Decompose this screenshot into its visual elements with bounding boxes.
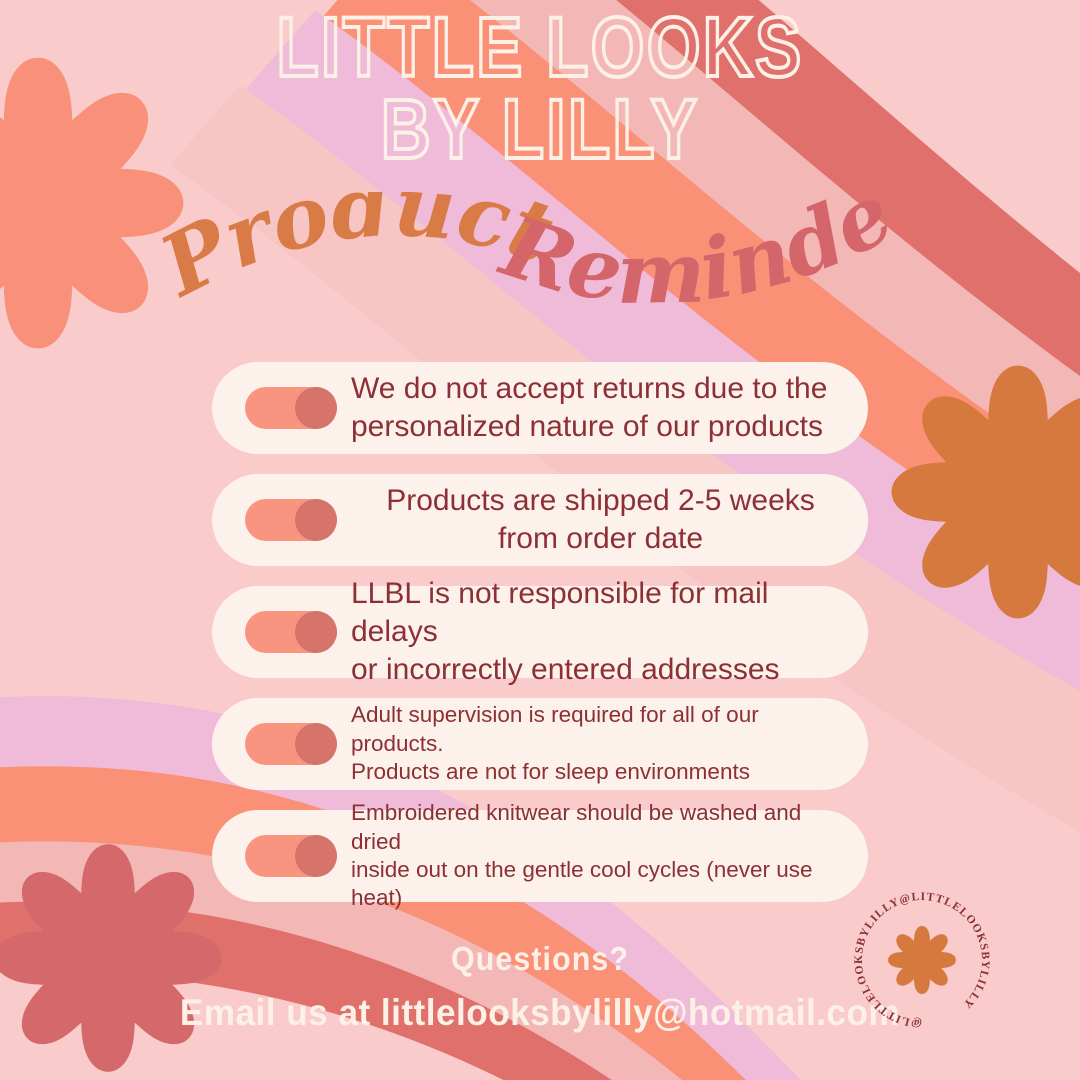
- reminder-text: Adult supervision is required for all of…: [351, 701, 850, 786]
- flower-badge-icon: [888, 926, 956, 994]
- toggle-switch-returns[interactable]: [245, 387, 337, 429]
- reminder-line-2: inside out on the gentle cool cycles (ne…: [351, 857, 813, 910]
- toggle-knob: [295, 611, 337, 653]
- reminder-item-mail-delays[interactable]: LLBL is not responsible for mail delays …: [212, 586, 868, 678]
- toggle-knob: [295, 723, 337, 765]
- reminder-item-washing[interactable]: Embroidered knitwear should be washed an…: [212, 810, 868, 902]
- toggle-knob: [295, 499, 337, 541]
- reminder-list: We do not accept returns due to the pers…: [212, 362, 868, 922]
- toggle-switch-adult-supervision[interactable]: [245, 723, 337, 765]
- reminder-text: We do not accept returns due to the pers…: [351, 370, 850, 446]
- reminder-item-adult-supervision[interactable]: Adult supervision is required for all of…: [212, 698, 868, 790]
- toggle-switch-washing[interactable]: [245, 835, 337, 877]
- reminder-line-1: LLBL is not responsible for mail delays: [351, 577, 768, 648]
- poster-canvas: LITTLE LOOKS BY LILLY Product Reminders …: [0, 0, 1080, 1080]
- reminder-text: LLBL is not responsible for mail delays …: [351, 575, 850, 688]
- reminder-line-1: Products are shipped 2-5 weeks: [386, 484, 815, 517]
- toggle-knob: [295, 387, 337, 429]
- toggle-knob: [295, 835, 337, 877]
- reminder-line-1: We do not accept returns due to the: [351, 372, 827, 405]
- reminder-line-2: from order date: [498, 522, 703, 555]
- reminder-text: Embroidered knitwear should be washed an…: [351, 799, 850, 912]
- toggle-switch-shipping[interactable]: [245, 499, 337, 541]
- reminder-line-2: Products are not for sleep environments: [351, 759, 750, 784]
- title-word-product: Product: [144, 192, 566, 316]
- reminder-item-returns[interactable]: We do not accept returns due to the pers…: [212, 362, 868, 454]
- reminder-text: Products are shipped 2-5 weeks from orde…: [351, 482, 850, 558]
- reminder-line-2: personalized nature of our products: [351, 410, 823, 443]
- reminder-line-2: or incorrectly entered addresses: [351, 653, 780, 686]
- instagram-badge[interactable]: @LITTLELOOKSBYLILLY@LITTLELOOKSBYLILLY: [852, 890, 992, 1030]
- reminder-item-shipping[interactable]: Products are shipped 2-5 weeks from orde…: [212, 474, 868, 566]
- page-title: Product Reminders: [0, 192, 1080, 342]
- reminder-line-1: Embroidered knitwear should be washed an…: [351, 800, 801, 853]
- toggle-switch-mail-delays[interactable]: [245, 611, 337, 653]
- reminder-line-1: Adult supervision is required for all of…: [351, 702, 759, 755]
